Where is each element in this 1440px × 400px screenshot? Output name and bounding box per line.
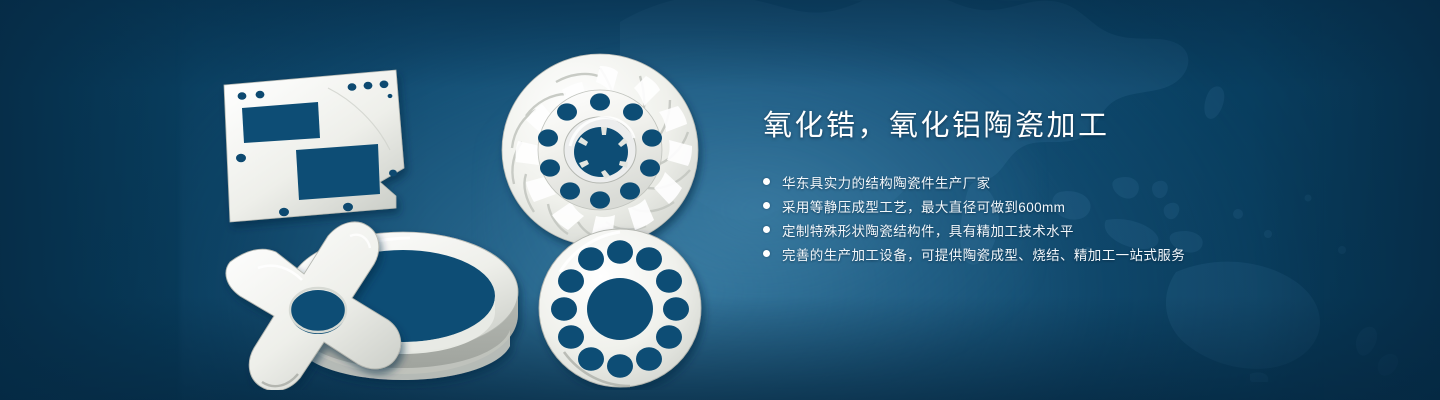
list-item: 华东具实力的结构陶瓷件生产厂家 (763, 170, 1383, 193)
hero-banner: 氧化锆，氧化铝陶瓷加工 华东具实力的结构陶瓷件生产厂家 采用等静压成型工艺，最大… (0, 0, 1440, 400)
list-item-label: 华东具实力的结构陶瓷件生产厂家 (782, 172, 991, 192)
bullet-dot-icon (763, 250, 770, 257)
list-item: 定制特殊形状陶瓷结构件，具有精加工技术水平 (763, 218, 1383, 241)
list-item-label: 定制特殊形状陶瓷结构件，具有精加工技术水平 (782, 220, 1074, 240)
list-item-label: 完善的生产加工设备，可提供陶瓷成型、烧结、精加工一站式服务 (782, 244, 1185, 264)
list-item: 采用等静压成型工艺，最大直径可做到600mm (763, 194, 1383, 217)
ceramic-perforated-disc (539, 229, 701, 387)
ceramic-products-image (200, 30, 720, 390)
list-item: 完善的生产加工设备，可提供陶瓷成型、烧结、精加工一站式服务 (763, 242, 1383, 265)
ceramic-impeller-disc (502, 54, 698, 246)
bullet-dot-icon (763, 202, 770, 209)
page-title: 氧化锆，氧化铝陶瓷加工 (763, 108, 1383, 144)
banner-copy: 氧化锆，氧化铝陶瓷加工 华东具实力的结构陶瓷件生产厂家 采用等静压成型工艺，最大… (763, 108, 1383, 266)
feature-list: 华东具实力的结构陶瓷件生产厂家 采用等静压成型工艺，最大直径可做到600mm 定… (763, 170, 1383, 265)
bullet-dot-icon (763, 226, 770, 233)
list-item-label: 采用等静压成型工艺，最大直径可做到600mm (782, 196, 1065, 216)
ceramic-mounting-plate (224, 70, 404, 222)
bullet-dot-icon (763, 178, 770, 185)
